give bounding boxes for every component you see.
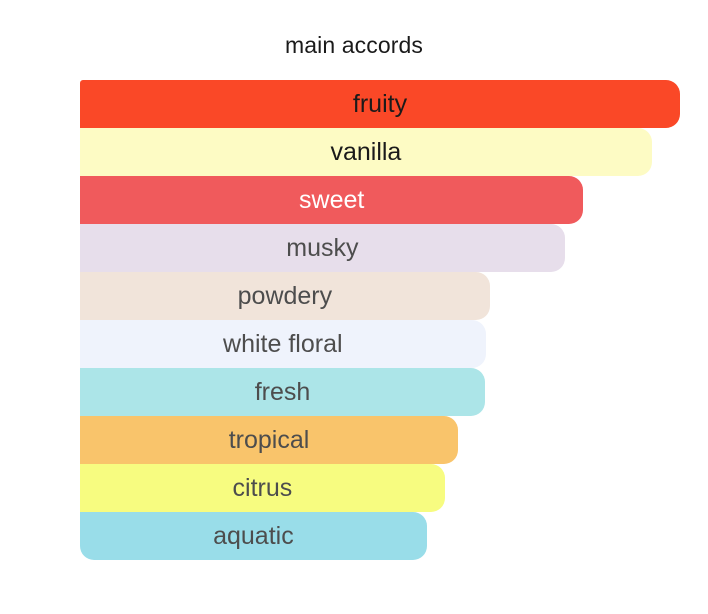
accord-bar[interactable]: [80, 464, 445, 512]
bar-row: fruity: [80, 80, 680, 128]
bar-row: sweet: [80, 176, 680, 224]
accord-bar[interactable]: [80, 320, 486, 368]
bar-list: fruityvanillasweetmuskypowderywhite flor…: [80, 80, 680, 564]
accord-bar[interactable]: [80, 368, 485, 416]
bar-row: fresh: [80, 368, 680, 416]
bar-row: powdery: [80, 272, 680, 320]
accord-bar[interactable]: [80, 128, 652, 176]
accord-bar[interactable]: [80, 272, 490, 320]
bar-row: citrus: [80, 464, 680, 512]
accord-bar[interactable]: [80, 512, 427, 560]
bar-row: white floral: [80, 320, 680, 368]
accord-bar[interactable]: [80, 80, 680, 128]
accord-bar[interactable]: [80, 416, 458, 464]
bar-row: musky: [80, 224, 680, 272]
bar-row: tropical: [80, 416, 680, 464]
bar-row: vanilla: [80, 128, 680, 176]
accord-bar[interactable]: [80, 224, 565, 272]
bar-row: aquatic: [80, 512, 680, 560]
main-accords-chart: main accords fruityvanillasweetmuskypowd…: [0, 0, 708, 614]
chart-title: main accords: [0, 31, 708, 59]
accord-bar[interactable]: [80, 176, 583, 224]
